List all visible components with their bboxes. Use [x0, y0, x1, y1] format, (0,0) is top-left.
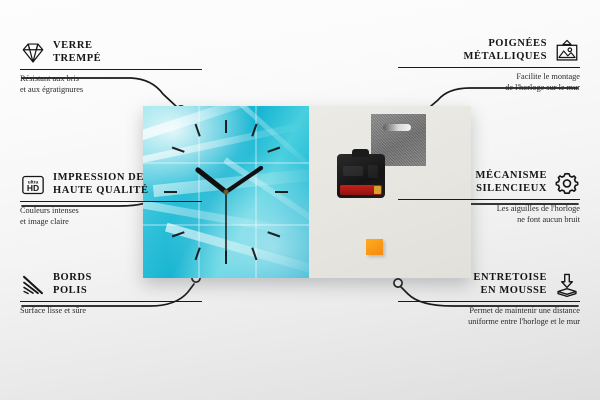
callout-description: Facilite le montage de l'horloge sur le …	[398, 72, 580, 94]
callout-title: ENTRETOISE EN MOUSSE	[473, 272, 547, 298]
infographic-stage: VERRE TREMPÉ Résistant aux bris et aux é…	[0, 0, 600, 400]
diamond-icon	[20, 40, 46, 66]
callout-title: IMPRESSION DE HAUTE QUALITÉ	[53, 172, 149, 198]
gear-icon	[554, 170, 580, 196]
callout-title: VERRE TREMPÉ	[53, 40, 101, 66]
callout-poignees-metalliques: POIGNÉES MÉTALLIQUES Facilite le montage…	[398, 38, 580, 94]
callout-description: Surface lisse et sûre	[20, 306, 202, 317]
foam-spacer-press-icon	[554, 272, 580, 298]
picture-frame-hanger-icon	[554, 38, 580, 64]
callout-description: Résistant aux bris et aux égratignures	[20, 74, 202, 96]
battery-terminal	[374, 186, 381, 194]
callout-title: MÉCANISME SILENCIEUX	[476, 170, 547, 196]
divider	[20, 69, 202, 70]
mechanism-detail	[343, 166, 363, 176]
callout-impression-haute-qualite: ultra HD IMPRESSION DE HAUTE QUALITÉ Cou…	[20, 172, 202, 228]
callout-description: Permet de maintenir une distance uniform…	[398, 306, 580, 328]
callout-title: POIGNÉES MÉTALLIQUES	[464, 38, 547, 64]
polished-edge-icon	[20, 272, 46, 298]
ultra-hd-icon: ultra HD	[20, 172, 46, 198]
battery	[340, 185, 382, 195]
callout-description: Couleurs intenses et image claire	[20, 206, 202, 228]
divider	[20, 201, 202, 202]
callout-entretoise-en-mousse: ENTRETOISE EN MOUSSE Permet de maintenir…	[398, 272, 580, 328]
divider	[20, 301, 202, 302]
callout-bords-polis: BORDS POLIS Surface lisse et sûre	[20, 272, 202, 317]
callout-verre-trempe: VERRE TREMPÉ Résistant aux bris et aux é…	[20, 40, 202, 96]
mechanism-detail-2	[368, 165, 378, 178]
mechanism-tab	[352, 149, 369, 157]
callout-description: Les aiguilles de l'horloge ne font aucun…	[398, 204, 580, 226]
svg-text:HD: HD	[27, 183, 39, 193]
callout-mecanisme-silencieux: MÉCANISME SILENCIEUX Les aiguilles de l'…	[398, 170, 580, 226]
hanger-keyhole-slot	[383, 124, 411, 131]
clock-mechanism	[337, 154, 385, 198]
divider	[398, 67, 580, 68]
callout-title: BORDS POLIS	[53, 272, 92, 298]
divider	[398, 199, 580, 200]
divider	[398, 301, 580, 302]
foam-spacer	[366, 239, 383, 255]
